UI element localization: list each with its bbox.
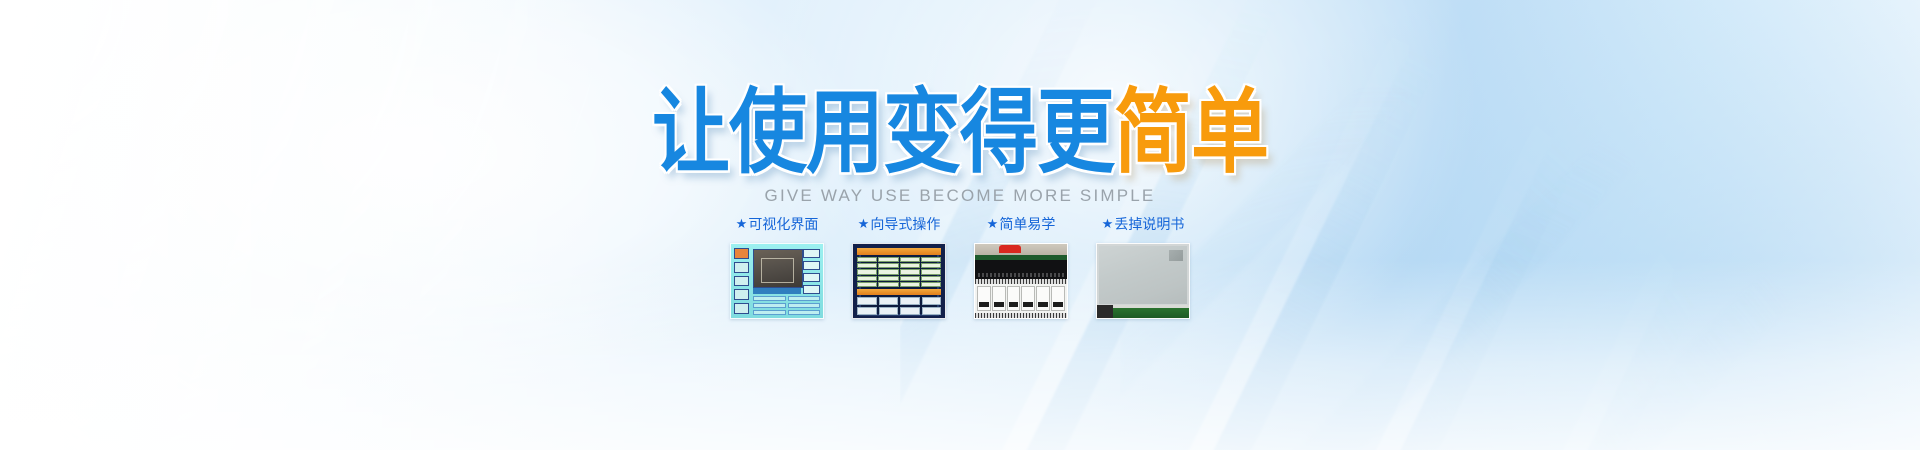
feature-item-wizard-operation[interactable]: ★向导式操作 bbox=[839, 213, 959, 319]
headline: 让使用变得更简单 bbox=[0, 84, 1920, 183]
thumb-tape-top bbox=[975, 279, 1067, 284]
feature-label: ★简单易学 bbox=[987, 213, 1056, 235]
banner-content: 让使用变得更简单 GIVE WAY USE BECOME MORE SIMPLE… bbox=[0, 0, 1920, 450]
thumb-button-grid bbox=[857, 297, 941, 315]
thumb-preview-photo bbox=[753, 249, 803, 288]
feature-label: ★可视化界面 bbox=[736, 213, 819, 235]
thumb-right-buttons bbox=[803, 249, 820, 294]
headline-orange-text: 简单 bbox=[1114, 80, 1268, 186]
thumb-option-grid bbox=[753, 296, 820, 315]
feature-item-visual-interface[interactable]: ★可视化界面 bbox=[717, 213, 837, 319]
thumb-metal-plate bbox=[1099, 246, 1187, 304]
easy-to-learn-screenshot[interactable] bbox=[974, 243, 1068, 319]
feature-label: ★丢掉说明书 bbox=[1102, 213, 1185, 235]
feature-label-text: 可视化界面 bbox=[748, 214, 818, 234]
thumb-header-bar bbox=[857, 248, 941, 255]
thumb-option-rows bbox=[857, 257, 941, 287]
feature-list: ★可视化界面 ★向导式操作 bbox=[0, 213, 1920, 319]
thumb-title-bar bbox=[753, 288, 801, 294]
visual-interface-screenshot[interactable] bbox=[730, 243, 824, 319]
thumb-schematic bbox=[975, 279, 1067, 318]
star-icon: ★ bbox=[858, 218, 870, 231]
feature-label-text: 向导式操作 bbox=[870, 214, 940, 234]
feature-label-text: 丢掉说明书 bbox=[1114, 214, 1184, 234]
thumb-left-buttons bbox=[734, 248, 749, 314]
no-manual-needed-screenshot[interactable] bbox=[1096, 243, 1190, 319]
thumb-red-handle bbox=[999, 245, 1021, 253]
thumb-tape-bottom bbox=[975, 313, 1067, 318]
subtitle: GIVE WAY USE BECOME MORE SIMPLE bbox=[0, 186, 1920, 206]
feature-label-text: 简单易学 bbox=[999, 214, 1055, 234]
thumb-dark-corner bbox=[1097, 305, 1113, 318]
thumb-schematic-cells bbox=[977, 286, 1065, 311]
promo-banner: 让使用变得更简单 GIVE WAY USE BECOME MORE SIMPLE… bbox=[0, 0, 1920, 450]
star-icon: ★ bbox=[1102, 218, 1114, 231]
wizard-operation-screenshot[interactable] bbox=[852, 243, 946, 319]
feature-item-easy-to-learn[interactable]: ★简单易学 bbox=[961, 213, 1081, 319]
star-icon: ★ bbox=[736, 218, 748, 231]
star-icon: ★ bbox=[987, 218, 999, 231]
feature-label: ★向导式操作 bbox=[858, 213, 941, 235]
feature-item-no-manual[interactable]: ★丢掉说明书 bbox=[1083, 213, 1203, 319]
headline-blue-text: 让使用变得更 bbox=[652, 80, 1114, 186]
thumb-dark-band bbox=[975, 260, 1067, 279]
thumb-machine-top bbox=[975, 244, 1067, 255]
thumb-second-header-bar bbox=[857, 289, 941, 295]
